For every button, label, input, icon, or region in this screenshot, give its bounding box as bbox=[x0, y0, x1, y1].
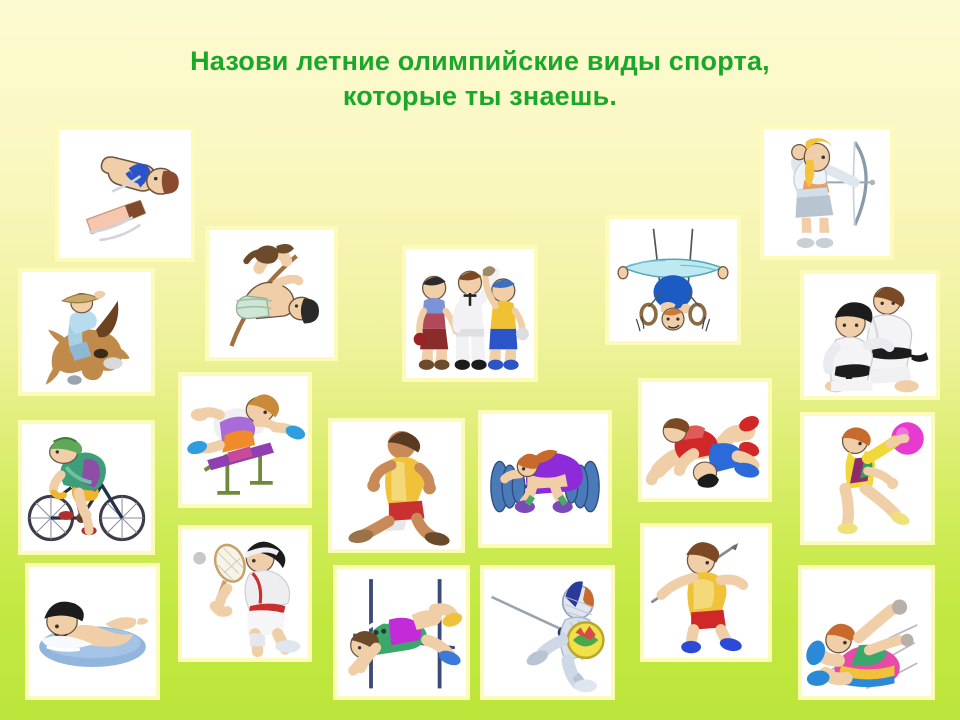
sport-card-diving[interactable] bbox=[55, 126, 195, 262]
sport-card-fencing[interactable] bbox=[480, 565, 615, 700]
sport-card-swimming[interactable] bbox=[25, 563, 160, 700]
fencing-icon bbox=[484, 569, 611, 696]
high-jump-icon bbox=[337, 569, 466, 696]
sport-card-rhythmic[interactable] bbox=[800, 412, 935, 545]
weightlifting-icon bbox=[482, 414, 608, 544]
pole-vault-icon bbox=[209, 230, 334, 357]
slide-canvas: Назови летние олимпийские виды спорта, к… bbox=[0, 0, 960, 720]
sport-card-high-jump[interactable] bbox=[333, 565, 470, 700]
sport-card-running[interactable] bbox=[328, 418, 465, 553]
sport-card-boxing[interactable] bbox=[402, 245, 538, 382]
page-title: Назови летние олимпийские виды спорта, к… bbox=[0, 44, 960, 114]
cycling-icon bbox=[22, 424, 151, 551]
tennis-icon bbox=[182, 529, 308, 658]
sport-card-pole-vault[interactable] bbox=[205, 226, 338, 361]
sport-card-wrestling[interactable] bbox=[638, 378, 772, 502]
boxing-icon bbox=[406, 249, 534, 378]
equestrian-icon bbox=[22, 272, 151, 392]
swimming-icon bbox=[29, 567, 156, 696]
sport-card-hurdles[interactable] bbox=[178, 372, 312, 508]
sport-card-weightlifting[interactable] bbox=[478, 410, 612, 548]
title-line-1: Назови летние олимпийские виды спорта, bbox=[0, 44, 960, 79]
sport-card-long-jump[interactable] bbox=[798, 565, 935, 700]
title-line-2: которые ты знаешь. bbox=[0, 79, 960, 114]
archery-icon bbox=[764, 129, 890, 256]
sport-card-javelin[interactable] bbox=[640, 523, 772, 662]
sport-card-cycling[interactable] bbox=[18, 420, 155, 555]
sport-card-judo[interactable] bbox=[800, 270, 940, 400]
long-jump-icon bbox=[802, 569, 931, 696]
rhythmic-gymnastics-icon bbox=[804, 416, 931, 541]
judo-icon bbox=[804, 274, 936, 396]
sport-card-tennis[interactable] bbox=[178, 525, 312, 662]
running-icon bbox=[332, 422, 461, 549]
hurdles-icon bbox=[182, 376, 308, 504]
sport-card-equestrian[interactable] bbox=[18, 268, 155, 396]
gymnastics-rings-icon bbox=[609, 219, 737, 341]
sport-card-archery[interactable] bbox=[760, 125, 894, 260]
diving-icon bbox=[59, 130, 191, 258]
javelin-icon bbox=[644, 527, 768, 658]
sport-card-rings[interactable] bbox=[605, 215, 741, 345]
wrestling-icon bbox=[642, 382, 768, 498]
